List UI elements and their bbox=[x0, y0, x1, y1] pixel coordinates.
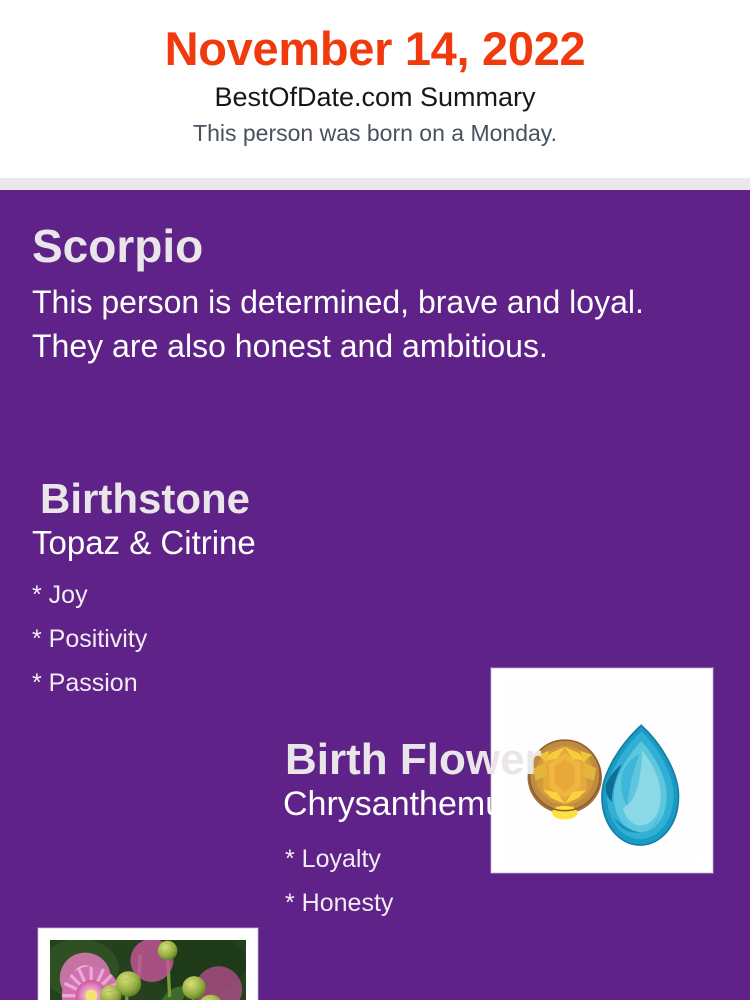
list-item: * Passion bbox=[32, 661, 472, 705]
zodiac-description: This person is determined, brave and loy… bbox=[32, 280, 697, 368]
list-item: * Joy bbox=[32, 573, 472, 617]
zodiac-section: Scorpio This person is determined, brave… bbox=[32, 223, 712, 368]
birthstone-section: Birthstone Topaz & Citrine * Joy * Posit… bbox=[32, 478, 472, 705]
birthstone-name: Topaz & Citrine bbox=[32, 525, 472, 561]
birthflower-image bbox=[50, 940, 246, 1000]
birthstone-trait-list: * Joy * Positivity * Passion bbox=[32, 573, 472, 705]
born-day-line: This person was born on a Monday. bbox=[0, 120, 750, 146]
birthflower-section: Birth Flower Chrysanthemum * Loyalty * H… bbox=[283, 738, 733, 925]
content-body: Scorpio This person is determined, brave… bbox=[0, 190, 750, 1000]
list-item: * Loyalty bbox=[285, 837, 733, 881]
summary-card: November 14, 2022 BestOfDate.com Summary… bbox=[0, 0, 750, 1000]
zodiac-sign-name: Scorpio bbox=[32, 223, 712, 269]
site-summary-label: BestOfDate.com Summary bbox=[0, 82, 750, 113]
list-item: * Honesty bbox=[285, 881, 733, 925]
birthflower-image-frame bbox=[38, 928, 258, 1000]
birthflower-heading: Birth Flower bbox=[283, 738, 733, 782]
header: November 14, 2022 BestOfDate.com Summary… bbox=[0, 0, 750, 178]
birthflower-name: Chrysanthemum bbox=[283, 786, 733, 823]
birthflower-trait-list: * Loyalty * Honesty bbox=[283, 837, 733, 925]
chrysanthemum-illustration bbox=[50, 940, 246, 1000]
header-divider bbox=[0, 178, 750, 190]
list-item: * Positivity bbox=[32, 617, 472, 661]
page-title: November 14, 2022 bbox=[0, 24, 750, 73]
birthstone-heading: Birthstone bbox=[32, 478, 472, 520]
